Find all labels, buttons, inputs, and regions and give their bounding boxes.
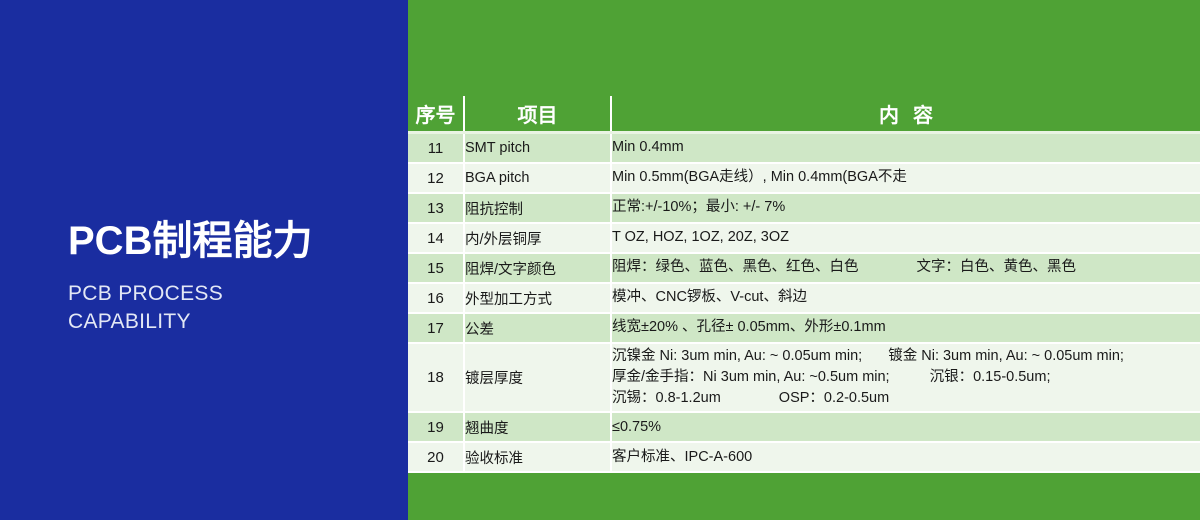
left-title-panel: PCB制程能力 PCB PROCESS CAPABILITY xyxy=(0,0,408,520)
column-header-no: 序号 xyxy=(408,96,464,133)
page-title-english-line1: PCB PROCESS xyxy=(68,280,398,308)
table-row: 14 内/外层铜厚 T OZ, HOZ, 1OZ, 20Z, 3OZ xyxy=(408,223,1200,253)
cell-item: 验收标准 xyxy=(464,442,611,472)
cell-no: 12 xyxy=(408,163,464,193)
cell-content: ≤0.75% xyxy=(611,412,1200,442)
table-header-row: 序号 项目 内容 xyxy=(408,96,1200,133)
cell-item: BGA pitch xyxy=(464,163,611,193)
cell-content-solder: 阻焊：绿色、蓝色、黑色、红色、白色 xyxy=(612,259,859,275)
plating-tin: 沉锡：0.8-1.2um xyxy=(612,390,721,406)
cell-no: 15 xyxy=(408,253,464,283)
page-title-english: PCB PROCESS CAPABILITY xyxy=(68,280,398,337)
cell-no: 13 xyxy=(408,193,464,223)
cell-content: 正常:+/-10%；最小: +/- 7% xyxy=(611,193,1200,223)
cell-item: 阻焊/文字颜色 xyxy=(464,253,611,283)
cell-content: Min 0.5mm(BGA走线）, Min 0.4mm(BGA不走 xyxy=(611,163,1200,193)
cell-item: 内/外层铜厚 xyxy=(464,223,611,253)
cell-content: Min 0.4mm xyxy=(611,133,1200,164)
table-row: 16 外型加工方式 模冲、CNC锣板、V-cut、斜边 xyxy=(408,283,1200,313)
cell-item: 翘曲度 xyxy=(464,412,611,442)
table-row: 18 镀层厚度 沉镍金 Ni: 3um min, Au: ~ 0.05um mi… xyxy=(408,343,1200,412)
cell-content: 线宽±20% 、孔径± 0.05mm、外形±0.1mm xyxy=(611,313,1200,343)
cell-item: 阻抗控制 xyxy=(464,193,611,223)
table-row: 15 阻焊/文字颜色 阻焊：绿色、蓝色、黑色、红色、白色文字：白色、黄色、黑色 xyxy=(408,253,1200,283)
table-row: 12 BGA pitch Min 0.5mm(BGA走线）, Min 0.4mm… xyxy=(408,163,1200,193)
table-row: 17 公差 线宽±20% 、孔径± 0.05mm、外形±0.1mm xyxy=(408,313,1200,343)
plating-silver: 沉银：0.15-0.5um; xyxy=(930,369,1051,385)
title-block: PCB制程能力 PCB PROCESS CAPABILITY xyxy=(68,218,398,337)
plating-line-2: 厚金/金手指：Ni 3um min, Au: ~0.5um min;沉银：0.1… xyxy=(612,367,1200,388)
table-row: 19 翘曲度 ≤0.75% xyxy=(408,412,1200,442)
cell-item: 外型加工方式 xyxy=(464,283,611,313)
plating-line-1: 沉镍金 Ni: 3um min, Au: ~ 0.05um min;镀金 Ni:… xyxy=(612,346,1200,367)
plating-line-3: 沉锡：0.8-1.2umOSP：0.2-0.5um xyxy=(612,388,1200,409)
table-row: 13 阻抗控制 正常:+/-10%；最小: +/- 7% xyxy=(408,193,1200,223)
pcb-capability-table: 序号 项目 内容 11 SMT pitch Min 0.4mm 12 BGA p… xyxy=(408,96,1200,473)
cell-content: 客户标准、IPC-A-600 xyxy=(611,442,1200,472)
column-header-item: 项目 xyxy=(464,96,611,133)
table-row: 11 SMT pitch Min 0.4mm xyxy=(408,133,1200,164)
table-row: 20 验收标准 客户标准、IPC-A-600 xyxy=(408,442,1200,472)
cell-no: 20 xyxy=(408,442,464,472)
cell-no: 19 xyxy=(408,412,464,442)
cell-no: 17 xyxy=(408,313,464,343)
page-title-english-line2: CAPABILITY xyxy=(68,308,398,336)
plating-enig: 沉镍金 Ni: 3um min, Au: ~ 0.05um min; xyxy=(612,348,862,364)
plating-hardgold: 厚金/金手指：Ni 3um min, Au: ~0.5um min; xyxy=(612,369,890,385)
cell-item: SMT pitch xyxy=(464,133,611,164)
cell-content: 模冲、CNC锣板、V-cut、斜边 xyxy=(611,283,1200,313)
cell-item: 公差 xyxy=(464,313,611,343)
plating-osp: OSP：0.2-0.5um xyxy=(779,390,889,406)
page-root: PCB制程能力 PCB PROCESS CAPABILITY 序号 项目 内容 xyxy=(0,0,1200,520)
plating-gold: 镀金 Ni: 3um min, Au: ~ 0.05um min; xyxy=(888,348,1124,364)
cell-content: 沉镍金 Ni: 3um min, Au: ~ 0.05um min;镀金 Ni:… xyxy=(611,343,1200,412)
column-header-content: 内容 xyxy=(611,96,1200,133)
cell-content: T OZ, HOZ, 1OZ, 20Z, 3OZ xyxy=(611,223,1200,253)
table-body: 11 SMT pitch Min 0.4mm 12 BGA pitch Min … xyxy=(408,133,1200,473)
cell-item: 镀层厚度 xyxy=(464,343,611,412)
cell-no: 11 xyxy=(408,133,464,164)
spec-table-container: 序号 项目 内容 11 SMT pitch Min 0.4mm 12 BGA p… xyxy=(408,96,1200,473)
cell-no: 18 xyxy=(408,343,464,412)
page-title-chinese: PCB制程能力 xyxy=(68,218,398,264)
cell-no: 16 xyxy=(408,283,464,313)
cell-content: 阻焊：绿色、蓝色、黑色、红色、白色文字：白色、黄色、黑色 xyxy=(611,253,1200,283)
cell-no: 14 xyxy=(408,223,464,253)
table-head: 序号 项目 内容 xyxy=(408,96,1200,133)
cell-content-legend: 文字：白色、黄色、黑色 xyxy=(917,259,1077,275)
